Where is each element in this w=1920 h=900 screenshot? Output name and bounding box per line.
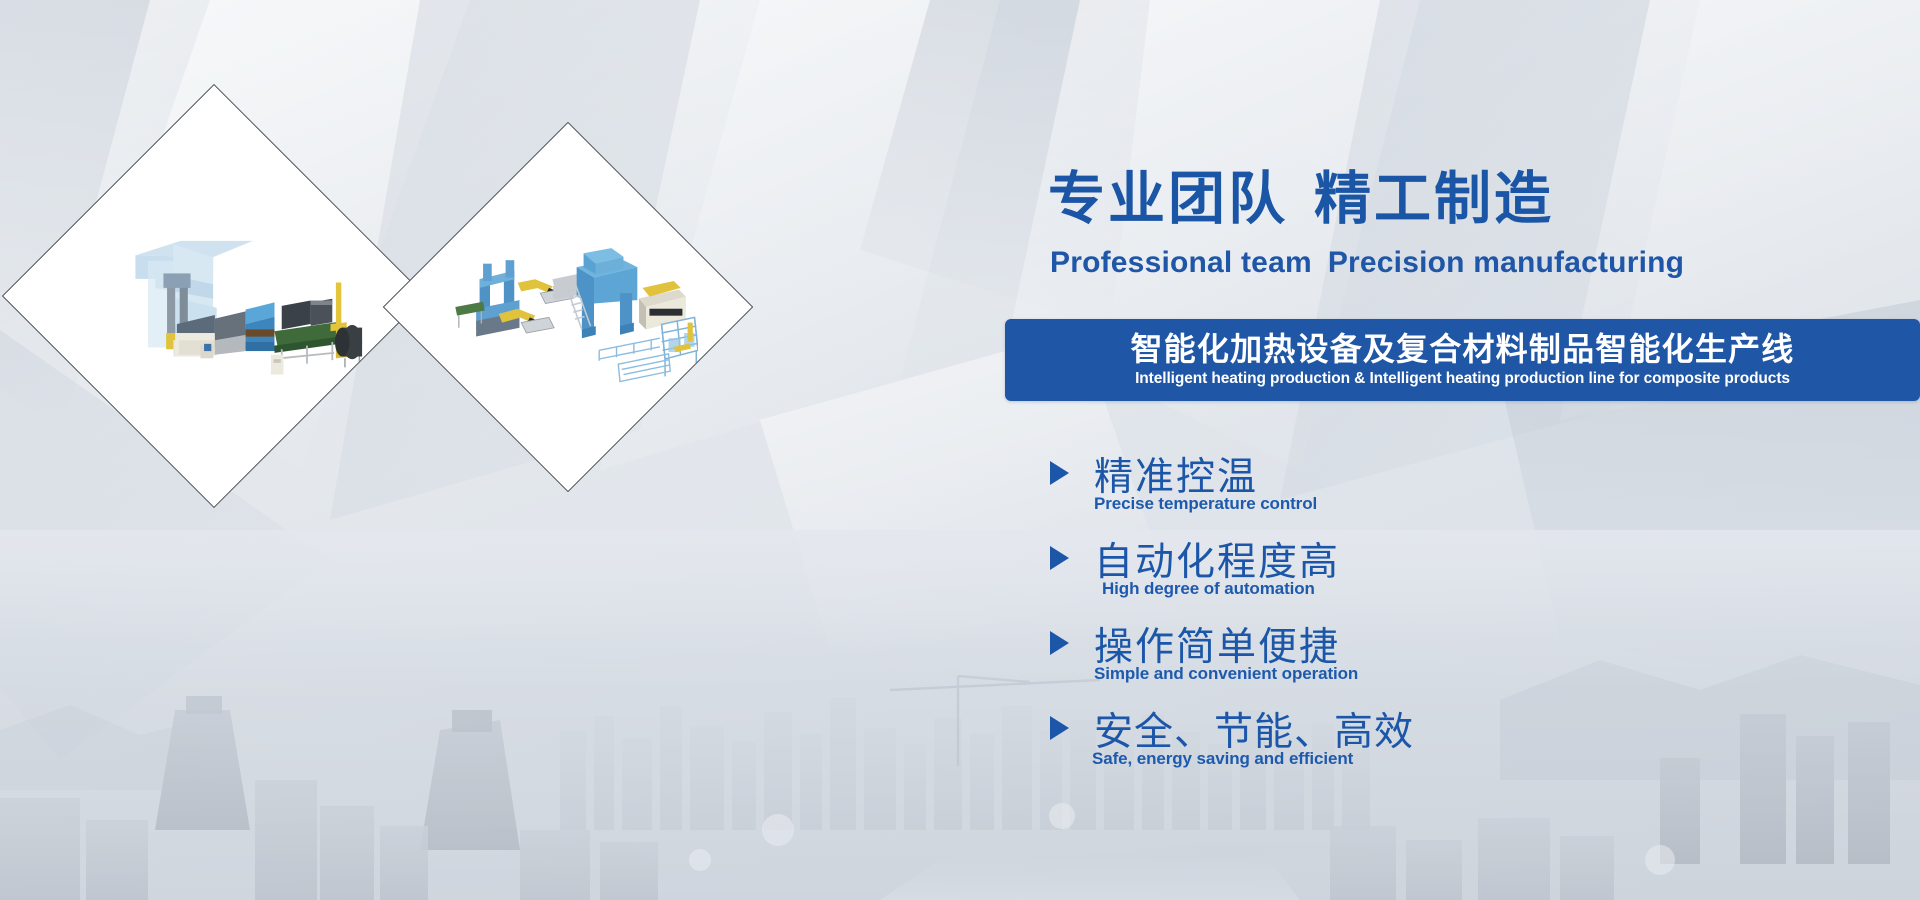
feature-1-label-en: Precise temperature control xyxy=(1094,494,1317,514)
page-subtitle: Professional teamPrecision manufacturing xyxy=(1050,246,1684,280)
triangle-right-icon xyxy=(1050,546,1069,570)
headline-cn-right: 精工制造 xyxy=(1314,167,1554,231)
page-title: 专业团队精工制造 xyxy=(1048,170,1554,228)
feature-item-3: 操作简单便捷 Simple and convenient operation xyxy=(1050,620,1690,705)
feature-2-label-en: High degree of automation xyxy=(1102,579,1315,599)
feature-3-label-en: Simple and convenient operation xyxy=(1094,664,1358,684)
headline-cn-left: 专业团队 xyxy=(1048,167,1288,231)
subhead-en-right: Precision manufacturing xyxy=(1328,246,1684,279)
triangle-right-icon xyxy=(1050,716,1069,740)
feature-item-2: 自动化程度高 High degree of automation xyxy=(1050,535,1690,620)
feature-4-label-en: Safe, energy saving and efficient xyxy=(1092,749,1353,769)
feature-item-1: 精准控温 Precise temperature control xyxy=(1050,450,1690,535)
subhead-en-left: Professional team xyxy=(1050,246,1312,279)
highlight-title-en: Intelligent heating production & Intelli… xyxy=(1135,370,1790,389)
feature-list: 精准控温 Precise temperature control 自动化程度高 … xyxy=(1050,450,1690,790)
feature-item-4: 安全、节能、高效 Safe, energy saving and efficie… xyxy=(1050,705,1690,790)
promotional-banner: 专业团队精工制造 Professional teamPrecision manu… xyxy=(0,0,1920,900)
triangle-right-icon xyxy=(1050,461,1069,485)
triangle-right-icon xyxy=(1050,631,1069,655)
text-content-block: 专业团队精工制造 Professional teamPrecision manu… xyxy=(1040,0,1920,900)
highlight-banner-box: 智能化加热设备及复合材料制品智能化生产线 Intelligent heating… xyxy=(1005,319,1920,401)
highlight-title-cn: 智能化加热设备及复合材料制品智能化生产线 xyxy=(1130,332,1794,367)
